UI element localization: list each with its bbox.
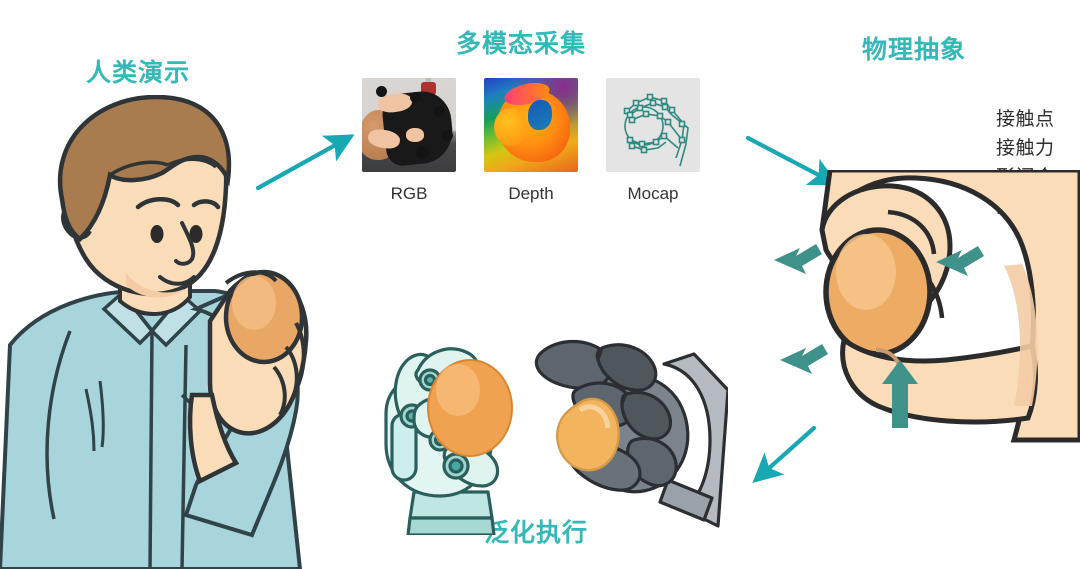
robot-hand-dark-illustration	[518, 330, 728, 530]
attribute-contact-point: 接触点	[996, 105, 1055, 134]
force-arrow-left-upper	[774, 244, 822, 274]
modality-thumb-rgb[interactable]: RGB	[362, 78, 456, 204]
modality-label-depth: Depth	[484, 184, 578, 204]
modality-label-mocap: Mocap	[606, 184, 700, 204]
figure-canvas: 人类演示 多模态采集 物理抽象 泛化执行 接触点 接触力 形闭合 力闭合	[0, 0, 1080, 569]
modality-thumb-depth[interactable]: Depth	[484, 78, 578, 204]
force-arrow-left-lower	[780, 344, 828, 374]
mocap-skeleton-image	[606, 78, 700, 172]
modality-label-rgb: RGB	[362, 184, 456, 204]
rgb-photo-image	[362, 78, 456, 172]
human-demonstrator-illustration	[0, 95, 340, 569]
heading-multimodal-capture: 多模态采集	[456, 24, 586, 60]
pinch-grasp-illustration	[770, 170, 1080, 460]
heading-human-demo: 人类演示	[86, 53, 190, 89]
heading-physical-abstraction: 物理抽象	[862, 30, 966, 66]
attribute-contact-force: 接触力	[996, 134, 1055, 163]
depth-map-image	[484, 78, 578, 172]
modality-thumb-mocap[interactable]: Mocap	[606, 78, 700, 204]
robot-hand-cyan-illustration	[352, 340, 542, 535]
